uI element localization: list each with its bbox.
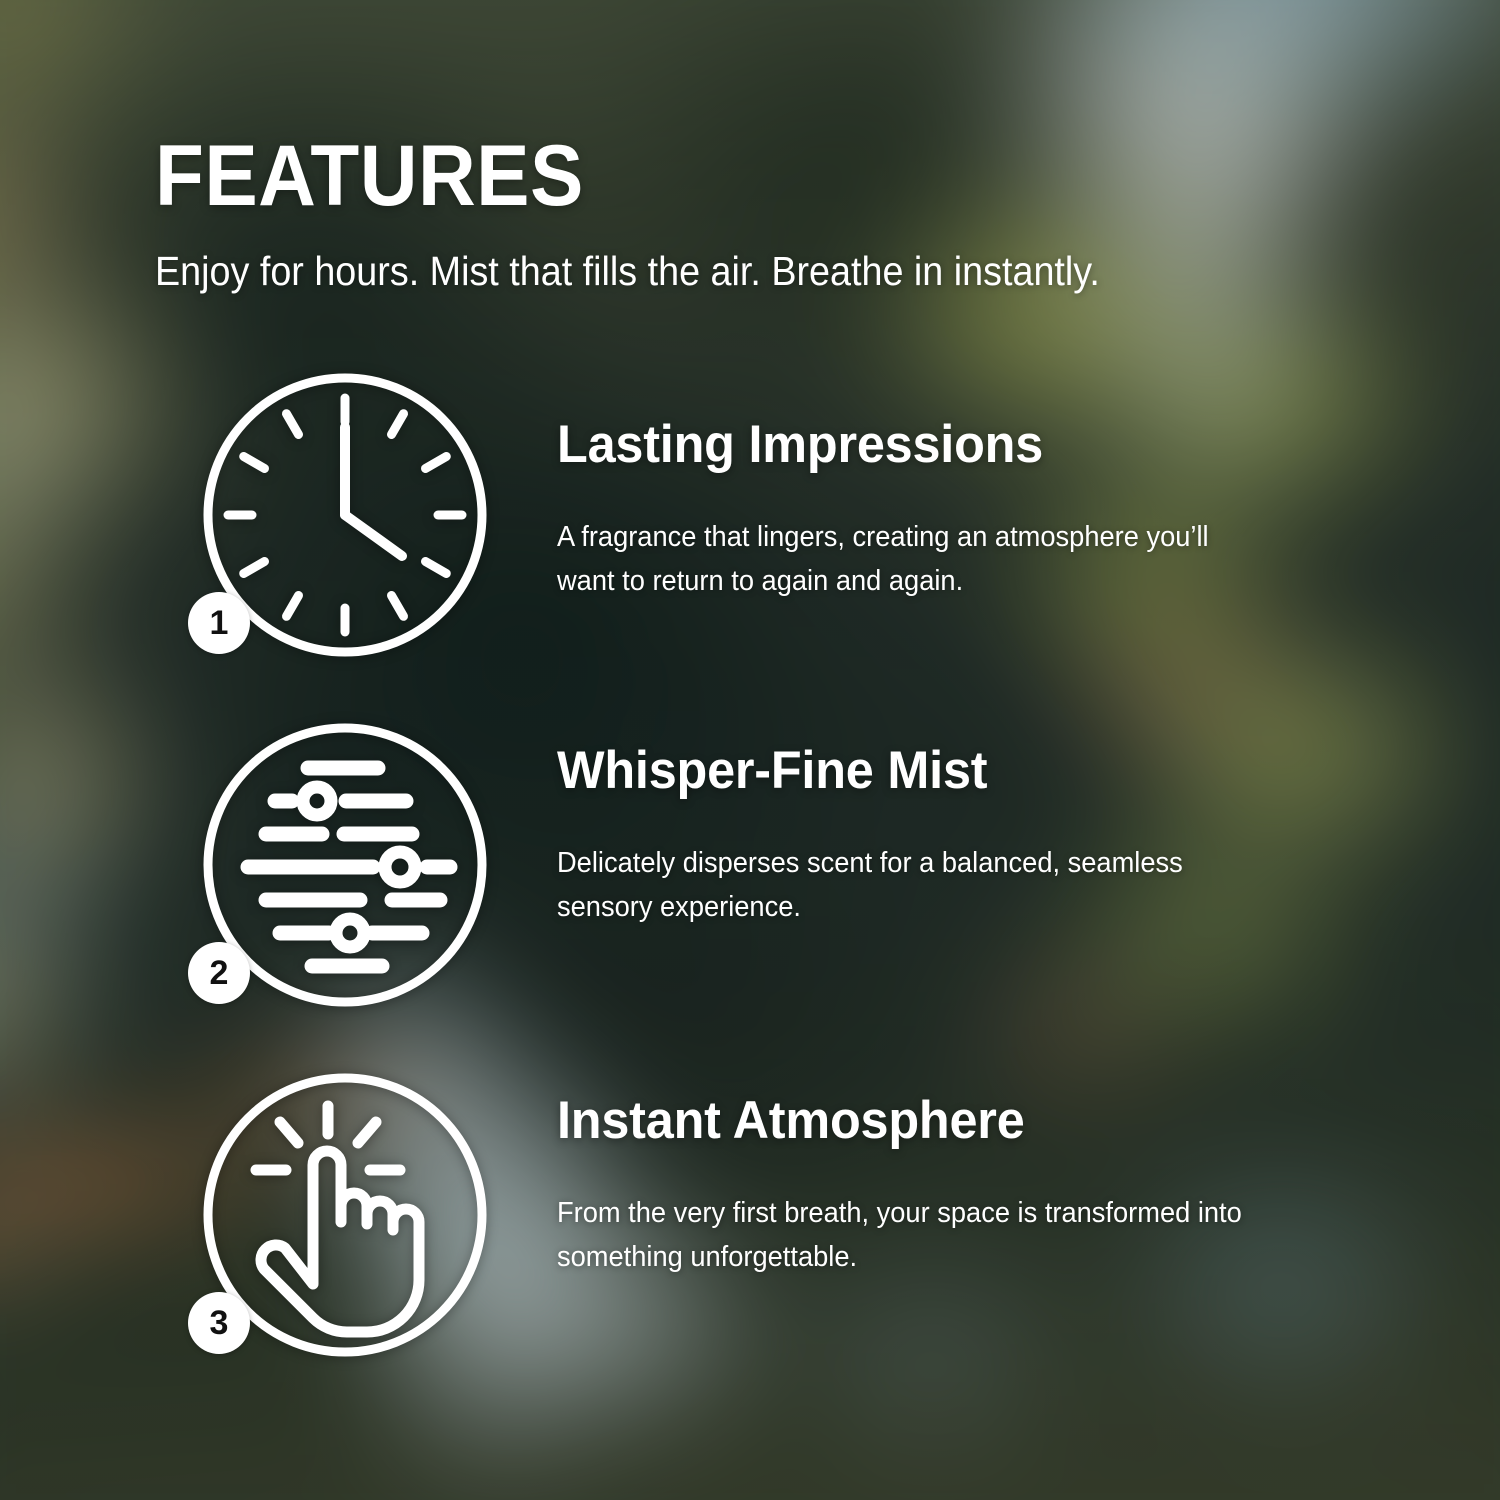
feature-list-page: FEATURES Enjoy for hours. Mist that fill… <box>0 0 1500 1500</box>
feature-description: A fragrance that lingers, creating an at… <box>557 515 1271 603</box>
feature-number-badge: 3 <box>188 1292 250 1354</box>
feature-title: Lasting Impressions <box>557 417 1279 473</box>
feature-item-instant-atmosphere: 3 Instant Atmosphere From the very first… <box>0 1065 1500 1365</box>
feature-item-whisper-fine-mist: 2 Whisper-Fine Mist Delicately disperses… <box>0 715 1500 1015</box>
feature-title: Whisper-Fine Mist <box>557 743 1279 799</box>
content-layer: FEATURES Enjoy for hours. Mist that fill… <box>0 0 1500 1500</box>
clock-icon-container: 1 <box>200 370 490 660</box>
mist-dispersion-icon-container: 2 <box>200 720 490 1010</box>
feature-text-block: Lasting Impressions A fragrance that lin… <box>557 417 1317 603</box>
page-subtitle: Enjoy for hours. Mist that fills the air… <box>155 248 1100 295</box>
feature-text-block: Instant Atmosphere From the very first b… <box>557 1093 1317 1279</box>
tap-hand-icon-container: 3 <box>200 1070 490 1360</box>
feature-number-badge: 1 <box>188 592 250 654</box>
feature-number-badge: 2 <box>188 942 250 1004</box>
feature-text-block: Whisper-Fine Mist Delicately disperses s… <box>557 743 1317 929</box>
feature-description: Delicately disperses scent for a balance… <box>557 841 1271 929</box>
feature-title: Instant Atmosphere <box>557 1093 1279 1149</box>
feature-description: From the very first breath, your space i… <box>557 1191 1271 1279</box>
page-title: FEATURES <box>155 133 584 219</box>
feature-item-lasting-impressions: 1 Lasting Impressions A fragrance that l… <box>0 365 1500 665</box>
